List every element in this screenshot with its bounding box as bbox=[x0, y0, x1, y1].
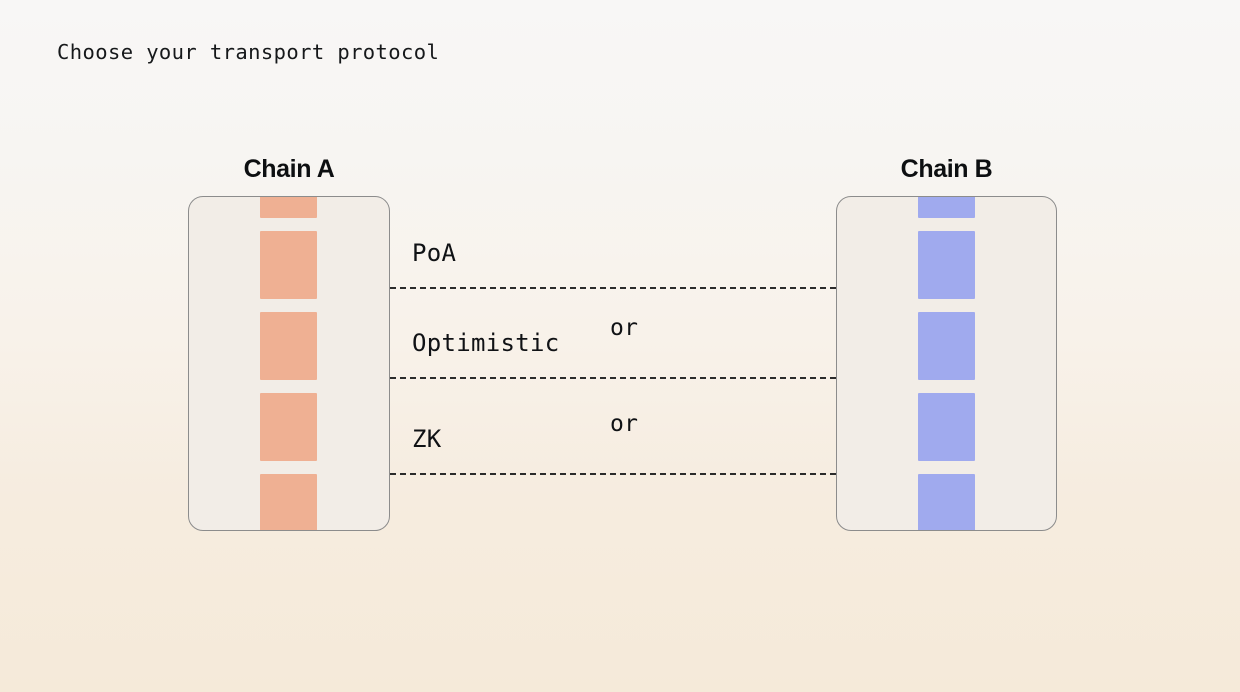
block bbox=[918, 231, 975, 299]
protocol-label-poa[interactable]: PoA bbox=[412, 239, 456, 267]
chain-b-block-column bbox=[918, 196, 975, 531]
protocol-label-zk[interactable]: ZK bbox=[412, 425, 442, 453]
block bbox=[918, 393, 975, 461]
block bbox=[260, 393, 317, 461]
block bbox=[918, 312, 975, 380]
page-title: Choose your transport protocol bbox=[57, 40, 439, 64]
chain-a-container bbox=[188, 196, 390, 531]
chain-b-container bbox=[836, 196, 1057, 531]
block bbox=[260, 312, 317, 380]
protocol-label-optimistic[interactable]: Optimistic bbox=[412, 329, 560, 357]
block bbox=[918, 196, 975, 218]
or-separator-2: or bbox=[610, 411, 638, 437]
block bbox=[260, 196, 317, 218]
block bbox=[260, 231, 317, 299]
connector-line-optimistic bbox=[390, 377, 836, 379]
block bbox=[260, 474, 317, 531]
connector-line-zk bbox=[390, 473, 836, 475]
connector-line-poa bbox=[390, 287, 836, 289]
chain-a-label: Chain A bbox=[188, 155, 390, 184]
chain-b-label: Chain B bbox=[836, 155, 1057, 184]
diagram-canvas: Choose your transport protocol Chain A C… bbox=[0, 0, 1240, 692]
or-separator-1: or bbox=[610, 315, 638, 341]
chain-a-block-column bbox=[260, 196, 317, 531]
block bbox=[918, 474, 975, 531]
